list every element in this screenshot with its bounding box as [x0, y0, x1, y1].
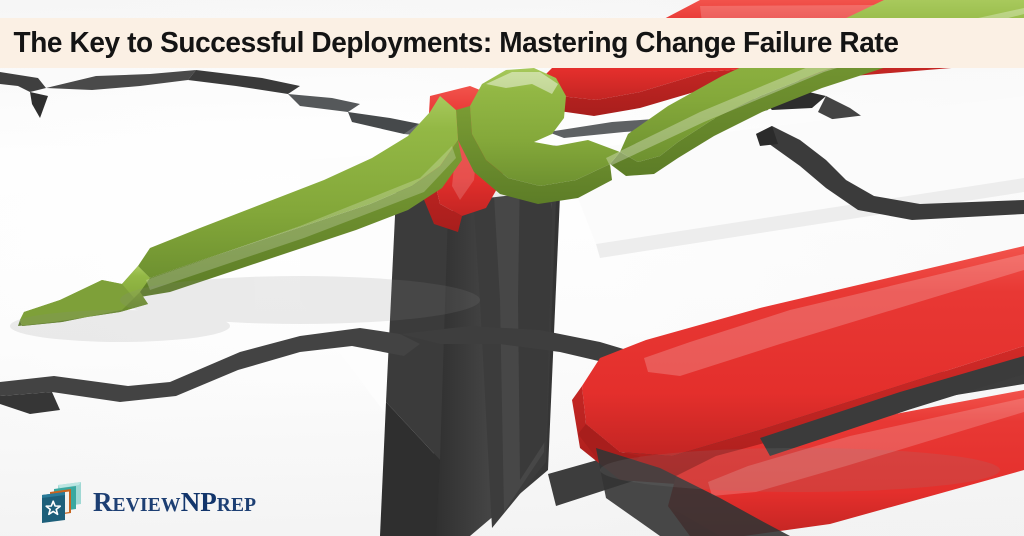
logo[interactable]: REVIEWNPREP — [38, 478, 256, 526]
logo-letters-eview: EVIEW — [113, 496, 181, 516]
logo-letter-p: P — [200, 489, 217, 516]
logo-wordmark: REVIEWNPREP — [93, 489, 256, 516]
illustration-vectors — [0, 0, 1024, 536]
title-band: The Key to Successful Deployments: Maste… — [0, 18, 1024, 68]
banner: The Key to Successful Deployments: Maste… — [0, 0, 1024, 536]
book-star-icon — [38, 480, 86, 524]
logo-letter-r: R — [93, 489, 113, 516]
logo-letters-rep: REP — [217, 496, 257, 516]
illustration-3d-scene — [0, 0, 1024, 536]
ground-slab-right — [560, 96, 1024, 258]
page-title: The Key to Successful Deployments: Maste… — [0, 29, 899, 58]
logo-letter-n: N — [181, 489, 201, 516]
